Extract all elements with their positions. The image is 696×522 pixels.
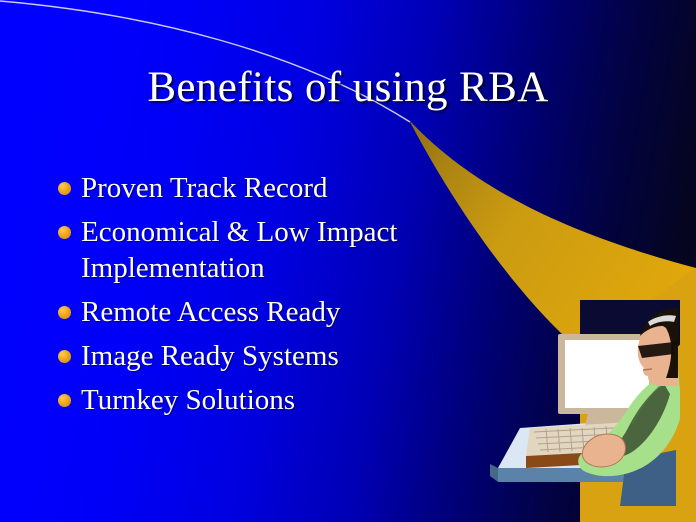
- bullet-item-2: Economical & Low Impact Implementation: [58, 214, 488, 286]
- bullet-dot-icon: [58, 226, 71, 239]
- bullet-text: Remote Access Ready: [81, 294, 340, 330]
- bullet-text: Economical & Low Impact Implementation: [81, 214, 488, 286]
- person-mouth: [643, 369, 652, 370]
- bullet-text: Turnkey Solutions: [81, 382, 295, 418]
- bullet-item-5: Turnkey Solutions: [58, 382, 488, 418]
- bullet-text: Image Ready Systems: [81, 338, 339, 374]
- bullet-dot-icon: [58, 182, 71, 195]
- slide-title: Benefits of using RBA: [0, 62, 696, 114]
- person-glasses-arm: [672, 342, 680, 344]
- clipart-person-at-computer: [480, 300, 696, 522]
- bullet-text: Proven Track Record: [81, 170, 327, 206]
- presentation-slide: Benefits of using RBA Proven Track Recor…: [0, 0, 696, 522]
- bullet-item-3: Remote Access Ready: [58, 294, 488, 330]
- bullet-list: Proven Track Record Economical & Low Imp…: [58, 170, 488, 426]
- bullet-dot-icon: [58, 306, 71, 319]
- bullet-dot-icon: [58, 350, 71, 363]
- bullet-item-1: Proven Track Record: [58, 170, 488, 206]
- bullet-dot-icon: [58, 394, 71, 407]
- bullet-item-4: Image Ready Systems: [58, 338, 488, 374]
- clipart-gold-right-strip: [680, 300, 696, 522]
